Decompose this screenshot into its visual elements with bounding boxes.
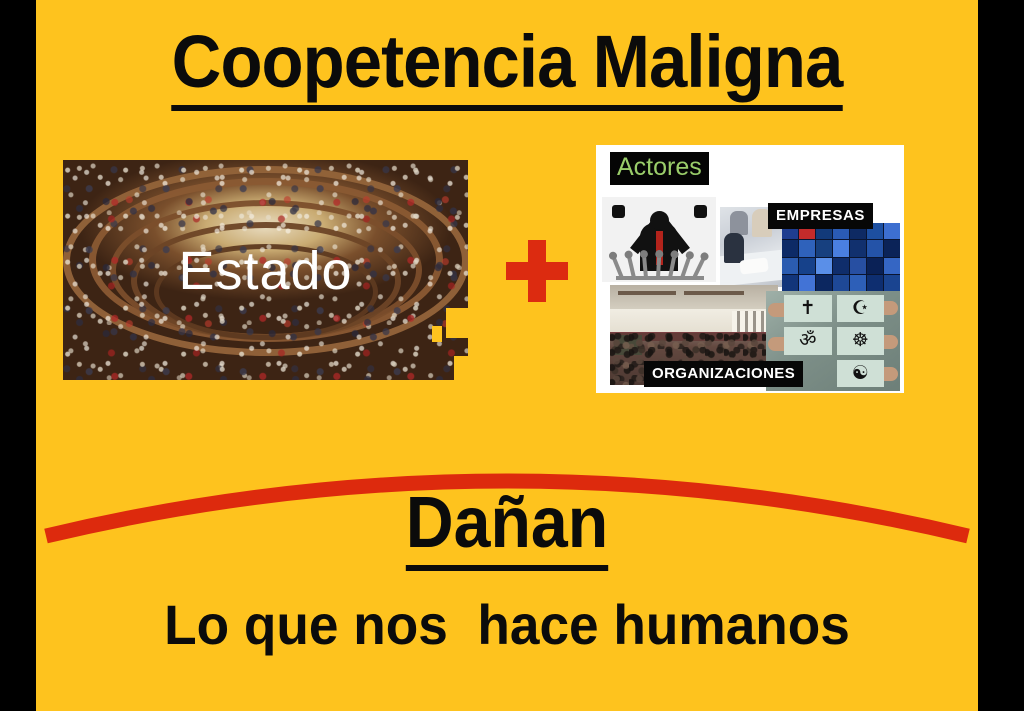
right-black-border (978, 0, 1024, 711)
hall-beam (618, 291, 676, 295)
subtitle-text: Lo que nos hace humanos (60, 592, 955, 658)
plus-icon (506, 240, 568, 302)
podium (616, 276, 704, 280)
image-notch (454, 356, 468, 380)
hall-beam (684, 291, 744, 295)
om-icon: ॐ (784, 327, 832, 354)
estado-image: Estado (63, 160, 468, 380)
slide-canvas: Coopetencia Maligna Estado Actores (36, 0, 978, 711)
page-title-text: Coopetencia Maligna (172, 20, 843, 111)
actores-collage: Actores (596, 145, 904, 393)
image-notch (432, 326, 442, 342)
organizaciones-label: ORGANIZACIONES (644, 361, 803, 387)
politician-panel (602, 197, 716, 282)
hall-ceiling (610, 285, 778, 311)
empresas-label: EMPRESAS (768, 203, 873, 229)
left-black-border (0, 0, 36, 711)
danan-heading: Dañan (74, 482, 941, 564)
microphone-group (618, 250, 702, 278)
politician-head (650, 211, 669, 230)
yin-yang-icon: ☯ (837, 360, 885, 387)
cross-icon: ✝ (784, 295, 832, 322)
meeting-person (724, 233, 744, 263)
meeting-person (730, 211, 748, 235)
danan-heading-text: Dañan (406, 483, 608, 571)
page-title: Coopetencia Maligna (69, 22, 945, 102)
tv-wall-panel (782, 223, 900, 291)
crescent-icon: ☪ (837, 295, 885, 322)
tv-screen-grid (782, 223, 900, 291)
actores-label: Actores (610, 152, 709, 185)
politician-hand-right (694, 205, 707, 218)
image-notch (446, 308, 468, 338)
politician-hand-left (612, 205, 625, 218)
slide-root: Coopetencia Maligna Estado Actores (0, 0, 1024, 711)
estado-caption: Estado (63, 242, 468, 300)
dharma-wheel-icon: ☸ (837, 327, 885, 354)
